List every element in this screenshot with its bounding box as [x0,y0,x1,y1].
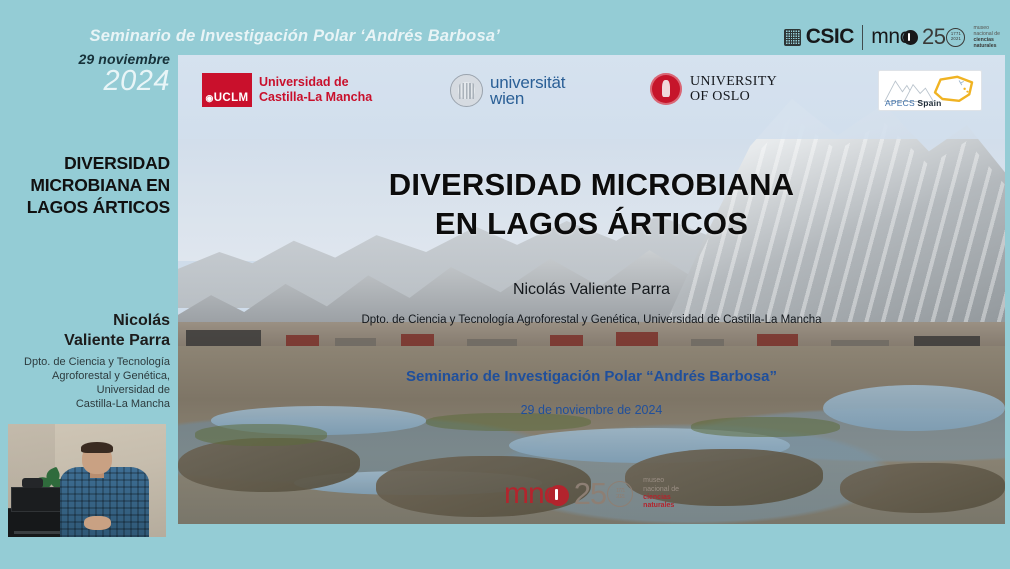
sidebar-talk-title: DIVERSIDAD MICROBIANA EN LAGOS ÁRTICOS [0,152,170,218]
slide-mncn-dot-icon [548,485,569,506]
universitat-wien-logo: universität wien [450,74,565,107]
slide-date: 29 de noviembre de 2024 [178,403,1005,417]
ring-year-end: 2021 [951,37,961,42]
affiliation-line4: Castilla-La Mancha [76,398,170,410]
speaker-video-feed[interactable] [8,424,166,537]
event-date-day: 29 noviembre [0,52,170,66]
mncn-tagline-2: nacional de [973,31,1000,37]
apecs-spain-logo: APECS Spain [878,70,982,111]
csic-logo: CSIC [784,25,854,49]
brand-divider [862,25,863,50]
mncn-tagline-1: museo [973,25,989,31]
uclm-mark-icon: ◉UCLM [202,73,252,107]
anniversary-number: 25 [922,24,945,50]
mncn-logo: mnc 25 1771 2021 museo nacional de cienc… [871,24,1000,50]
slide-affiliation: Dpto. de Ciencia y Tecnología Agroforest… [178,314,1005,326]
uclm-line2: Castilla-La Mancha [259,90,372,104]
speaker-name-line1: Nicolás [113,312,170,329]
apecs-text: APECS [885,98,917,108]
affiliation-line1: Dpto. de Ciencia y Tecnología [24,356,170,368]
video-camera-device [22,478,43,488]
slide-mncn-logo: mnc 25 1771 2021 museo nacional de cienc… [178,476,1005,512]
slide-tagline-4: naturales [643,502,674,509]
video-speaker-hair [81,442,113,453]
event-date-year: 2024 [0,67,170,96]
mncn-dot-icon [903,30,918,45]
apecs-bold: Spain [917,98,941,108]
oslo-line1: UNIVERSITY [690,74,777,89]
brand-bar: CSIC mnc 25 1771 2021 museo nacional de … [784,20,1000,54]
video-speaker-hands [84,516,111,531]
slide-logos: ◉UCLM Universidad de Castilla-La Mancha … [178,55,1005,139]
wien-line2: wien [490,89,524,108]
seminar-header-title: Seminario de Investigación Polar ‘Andrés… [89,27,500,46]
slide-title-line2: EN LAGOS ÁRTICOS [435,206,748,241]
event-date-block: 29 noviembre 2024 [0,52,170,96]
slide-anniversary-number: 25 [574,476,606,512]
uclm-mark-prefix: ◉ [205,93,213,103]
mncn-wordmark: mnc [871,25,918,49]
csic-wordmark: CSIC [806,25,854,49]
slide-author: Nicolás Valiente Parra [178,281,1005,299]
anniversary-250: 25 1771 2021 [922,24,965,50]
university-of-oslo-logo: UNIVERSITY OF OSLO [650,73,777,105]
seminar-header: Seminario de Investigación Polar ‘Andrés… [0,22,500,50]
affiliation-line2: Agroforestal y Genética, [52,370,170,382]
wien-wordmark: universität wien [490,75,565,107]
speaker-affiliation: Dpto. de Ciencia y Tecnología Agroforest… [0,355,170,411]
slide-seminar-name: Seminario de Investigación Polar “Andrés… [178,368,1005,385]
uclm-line1: Universidad de [259,75,349,89]
oslo-seal-icon [650,73,682,105]
mncn-tagline-4: naturales [973,43,996,49]
slide-mncn-wordmark: mnc [504,477,569,511]
slide-tagline-3: ciencias [643,494,671,501]
slide-title-line1: DIVERSIDAD MICROBIANA [389,167,795,202]
uclm-wordmark: Universidad de Castilla-La Mancha [259,75,372,105]
slide-tagline-1: museo [643,477,664,484]
slide-title: DIVERSIDAD MICROBIANA EN LAGOS ÁRTICOS [178,165,1005,243]
mncn-tagline: museo nacional de ciencias naturales [973,25,1000,50]
uclm-mark-text: UCLM [214,92,249,104]
anniversary-ring-icon: 1771 2021 [946,28,965,47]
speaker-name: Nicolás Valiente Parra [0,311,170,351]
slide-tagline-2: nacional de [643,486,679,493]
slide-ring-year-end: 2021 [616,494,624,500]
affiliation-line3: Universidad de [97,384,170,396]
uclm-logo: ◉UCLM Universidad de Castilla-La Mancha [202,73,372,107]
slide-anniversary-250: 25 1771 2021 [574,476,633,512]
mncn-tagline-3: ciencias [973,37,993,43]
slide-mncn-tagline: museo nacional de ciencias naturales [643,477,679,511]
wien-seal-icon [450,74,483,107]
csic-grid-icon [784,29,801,46]
apecs-wordmark: APECS Spain [885,98,942,108]
oslo-line2: OF OSLO [690,89,750,104]
oslo-wordmark: UNIVERSITY OF OSLO [690,74,777,104]
sidebar-speaker-block: Nicolás Valiente Parra Dpto. de Ciencia … [0,311,170,411]
slide-anniversary-ring-icon: 1771 2021 [607,481,633,507]
speaker-name-line2: Valiente Parra [64,332,170,349]
presentation-slide[interactable]: ◉UCLM Universidad de Castilla-La Mancha … [178,55,1005,524]
